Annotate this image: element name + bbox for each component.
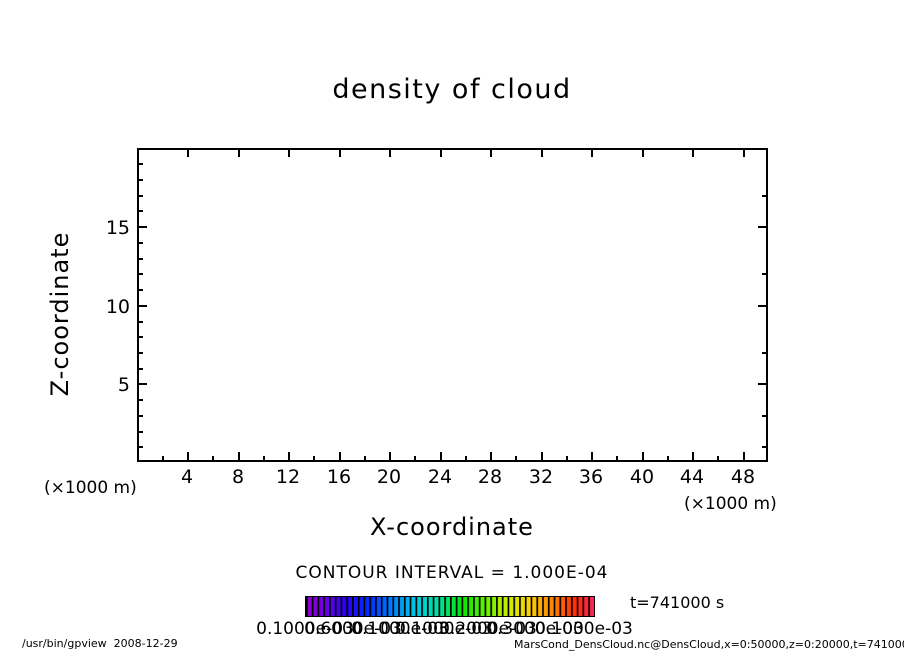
y-tick-minor: [137, 210, 143, 212]
y-tick-minor: [137, 195, 143, 197]
x-tick-major: [440, 452, 442, 462]
x-tick-major: [591, 452, 593, 462]
x-tick-top: [339, 148, 341, 157]
y-tick-label: 15: [84, 217, 130, 239]
y-tick-minor: [137, 321, 143, 323]
x-tick-major: [692, 452, 694, 462]
y-tick-minor: [137, 163, 143, 165]
x-tick-major: [339, 452, 341, 462]
y-tick-label: 10: [84, 296, 130, 318]
y-tick-right-minor: [762, 273, 768, 275]
page-title: density of cloud: [0, 74, 904, 105]
x-tick-major: [389, 452, 391, 462]
contour-interval-label: CONTOUR INTERVAL = 1.000E-04: [0, 563, 904, 583]
y-tick-minor: [137, 368, 143, 370]
y-tick-label: 5: [84, 374, 130, 396]
x-tick-top: [238, 148, 240, 157]
y-tick-minor: [137, 242, 143, 244]
x-tick-major: [743, 452, 745, 462]
y-tick-minor: [137, 431, 143, 433]
y-tick-right-minor: [762, 415, 768, 417]
y-tick-right: [758, 383, 768, 385]
x-tick-minor: [414, 456, 416, 462]
x-tick-minor: [263, 456, 265, 462]
colorbar[interactable]: [305, 596, 595, 617]
x-tick-major: [187, 452, 189, 462]
x-tick-minor: [616, 456, 618, 462]
x-tick-top: [389, 148, 391, 157]
y-tick-minor: [137, 415, 143, 417]
y-tick-minor: [137, 446, 143, 448]
x-tick-top: [288, 148, 290, 157]
colorbar-ticks: [306, 597, 594, 616]
x-tick-label: 48: [713, 466, 773, 488]
x-tick-minor: [717, 456, 719, 462]
x-tick-minor: [313, 456, 315, 462]
y-tick-right: [758, 305, 768, 307]
x-axis-unit-right: (×1000 m): [684, 494, 777, 514]
x-tick-minor: [162, 456, 164, 462]
x-tick-minor: [515, 456, 517, 462]
y-tick-minor: [137, 352, 143, 354]
x-axis-title: X-coordinate: [0, 513, 904, 541]
y-tick-major: [137, 383, 147, 385]
x-tick-major: [490, 452, 492, 462]
x-tick-minor: [465, 456, 467, 462]
y-tick-minor: [137, 179, 143, 181]
colorbar-tick-labels: 0.1000e-03 0.6000e-03 0.1000e-03 0.1000e…: [0, 619, 904, 639]
x-tick-top: [642, 148, 644, 157]
x-tick-major: [541, 452, 543, 462]
y-axis-title: Z-coordinate: [46, 214, 74, 414]
y-tick-right-minor: [762, 446, 768, 448]
x-tick-major: [238, 452, 240, 462]
x-tick-top: [692, 148, 694, 157]
x-tick-top: [490, 148, 492, 157]
x-tick-major: [288, 452, 290, 462]
y-tick-major: [137, 305, 147, 307]
footer-command-label: /usr/bin/gpview 2008-12-29: [22, 637, 178, 650]
x-tick-top: [440, 148, 442, 157]
x-tick-top: [187, 148, 189, 157]
x-tick-top: [591, 148, 593, 157]
plot-frame: [137, 148, 768, 462]
y-tick-right: [758, 226, 768, 228]
x-tick-top: [743, 148, 745, 157]
y-tick-major: [137, 226, 147, 228]
footer-dataset-label: MarsCond_DensCloud.nc@DensCloud,x=0:5000…: [514, 638, 904, 651]
x-tick-major: [642, 452, 644, 462]
x-tick-minor: [667, 456, 669, 462]
y-tick-minor: [137, 258, 143, 260]
time-label: t=741000 s: [630, 593, 724, 612]
x-tick-minor: [566, 456, 568, 462]
colorbar-tick-label: 0.1000e-03: [524, 619, 644, 639]
x-tick-top: [541, 148, 543, 157]
y-tick-minor: [137, 399, 143, 401]
y-tick-right-minor: [762, 195, 768, 197]
y-tick-minor: [137, 336, 143, 338]
x-tick-minor: [364, 456, 366, 462]
y-tick-right-minor: [762, 352, 768, 354]
x-tick-minor: [212, 456, 214, 462]
x-axis-unit-left: (×1000 m): [44, 478, 137, 498]
y-tick-minor: [137, 289, 143, 291]
y-tick-minor: [137, 273, 143, 275]
